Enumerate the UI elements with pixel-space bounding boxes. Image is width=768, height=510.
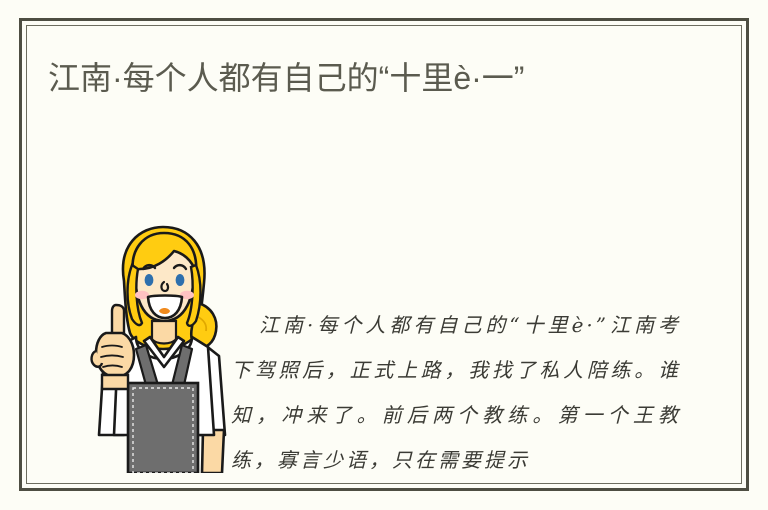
eye-left [145,274,154,286]
woman-figure-svg [88,225,238,473]
right-forearm [202,430,224,473]
article-card: 江南·每个人都有自己的“十里è·一” [0,0,768,510]
wrist [102,375,128,389]
article-body: 江南·每个人都有自己的“十里è·”江南考下驾照后，正式上路，我找了私人陪练。谁知… [231,213,681,483]
page-title: 江南·每个人都有自己的“十里è·一” [48,55,688,101]
article-body-paragraph: 江南·每个人都有自己的“十里è·”江南考下驾照后，正式上路，我找了私人陪练。谁知… [231,303,681,483]
cartoon-woman-pointing-up-illustration [88,225,238,473]
eye-right [176,274,185,286]
apron-body [128,383,198,473]
neck [152,321,176,344]
card-content: 江南·每个人都有自己的“十里è·一” [26,25,742,484]
